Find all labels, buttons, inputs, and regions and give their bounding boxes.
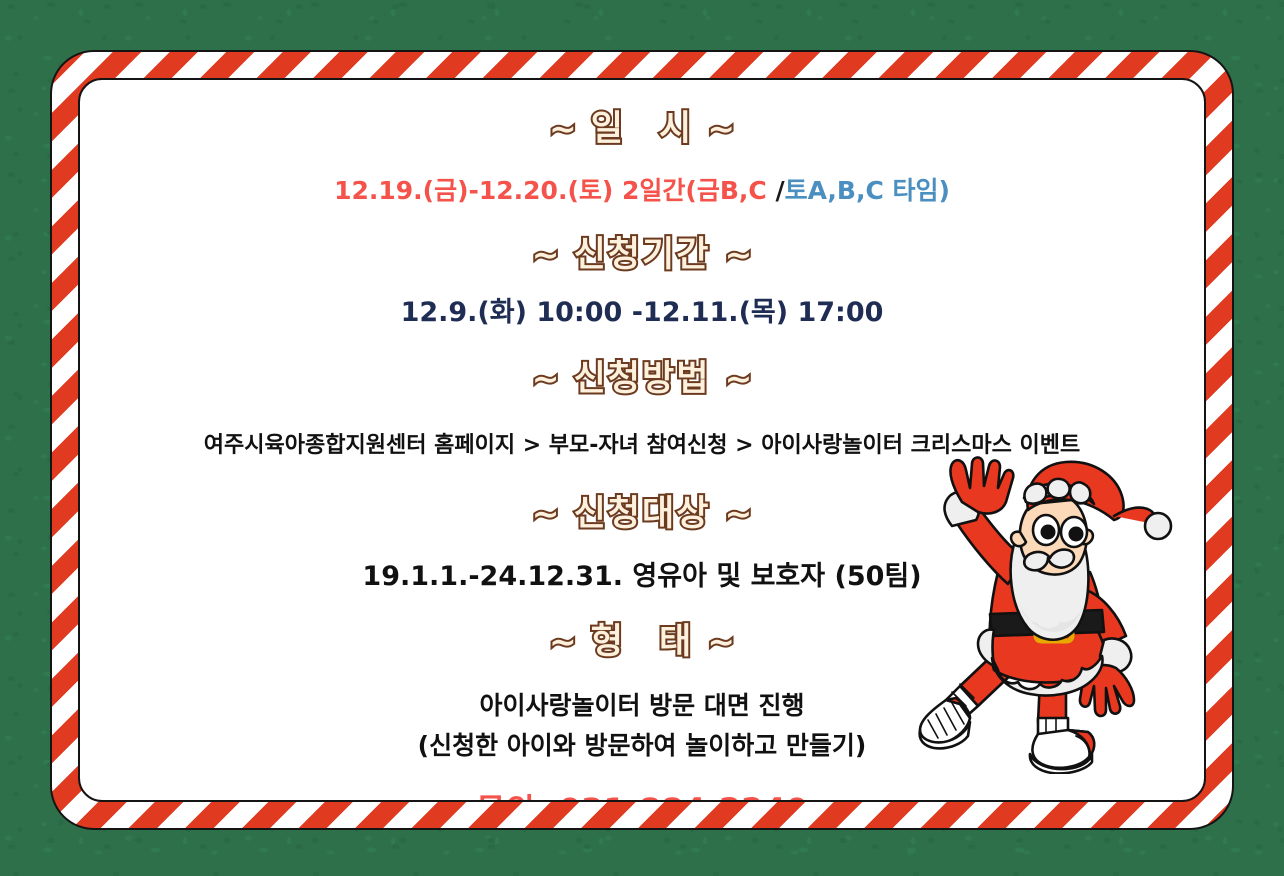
contact-phone[interactable]: 문의 :031-884-2240 [80, 789, 1204, 802]
datetime-value-saturday: 토A,B,C 타임) [785, 176, 950, 205]
candy-cane-frame: ∼ 일시 ∼ 12.19.(금)-12.20.(토) 2일간(금B,C /토A,… [50, 50, 1234, 830]
heading-word-target: 신청대상 [574, 494, 711, 534]
datetime-value-divider: / [775, 176, 784, 205]
heading-word-method: 신청방법 [574, 359, 711, 399]
heading-word-type: 태 [659, 622, 693, 662]
santa-claus-waving-icon [890, 454, 1190, 774]
heading-word-date: 일 [591, 109, 625, 149]
tilde-left-icon: ∼ [532, 235, 560, 274]
tilde-right-icon: ∼ [725, 494, 753, 533]
period-value: 12.9.(화) 10:00 -12.11.(목) 17:00 [80, 295, 1204, 331]
heading-word-period: 신청기간 [574, 235, 711, 275]
tilde-right-icon: ∼ [725, 235, 753, 274]
section-heading-period: ∼ 신청기간 ∼ [80, 234, 1204, 278]
tilde-left-icon: ∼ [549, 622, 577, 661]
heading-word-time: 시 [659, 109, 693, 149]
tilde-left-icon: ∼ [532, 359, 560, 398]
datetime-value-friday: 12.19.(금)-12.20.(토) 2일간(금B,C [334, 176, 775, 205]
tilde-right-icon: ∼ [707, 109, 735, 148]
section-heading-datetime: ∼ 일시 ∼ [80, 108, 1204, 152]
poster-card-inner: ∼ 일시 ∼ 12.19.(금)-12.20.(토) 2일간(금B,C /토A,… [78, 78, 1206, 802]
tilde-left-icon: ∼ [549, 109, 577, 148]
tilde-right-icon: ∼ [707, 622, 735, 661]
tilde-right-icon: ∼ [725, 359, 753, 398]
section-heading-method: ∼ 신청방법 ∼ [80, 358, 1204, 402]
heading-word-form: 형 [591, 622, 625, 662]
tilde-left-icon: ∼ [532, 494, 560, 533]
datetime-value: 12.19.(금)-12.20.(토) 2일간(금B,C /토A,B,C 타임) [80, 174, 1204, 208]
